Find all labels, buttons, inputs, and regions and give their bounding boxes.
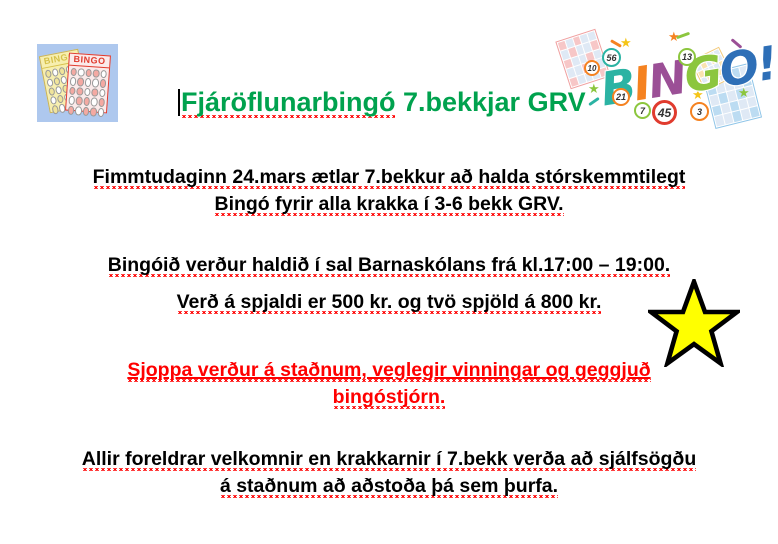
small-star-icon-2: ★ — [588, 82, 600, 95]
bingo-card-red-grid — [66, 66, 109, 119]
bingo-ball-21-number: 21 — [616, 92, 626, 102]
bingo-ball-10-number: 10 — [588, 64, 597, 73]
paragraph-parents: Allir foreldrar velkomnir en krakkarnir … — [0, 446, 778, 500]
text-cursor-caret — [178, 89, 180, 116]
document-page: BINGO BINGO — [0, 0, 778, 544]
paragraph-intro-line-1-text: Fimmtudaginn 24.mars ætlar 7.bekkur að h… — [93, 166, 686, 190]
paragraph-parents-line-1-text: Allir foreldrar velkomnir en krakkarnir … — [82, 448, 697, 472]
yellow-star-icon — [648, 279, 740, 367]
paragraph-highlight-line-1-text: Sjoppa verður á staðnum, veglegir vinnin… — [127, 359, 650, 383]
paragraph-intro-line-1: Fimmtudaginn 24.mars ætlar 7.bekkur að h… — [0, 164, 778, 191]
page-title: Fjáröflunarbingó 7.bekkjar GRV — [178, 86, 586, 118]
page-title-main: Fjáröflunarbingó — [181, 87, 395, 119]
bingo-ball-56-number: 56 — [606, 53, 616, 63]
bingo-ball-3: 3 — [690, 102, 709, 121]
bingo-ball-45-number: 45 — [658, 106, 671, 120]
paragraph-parents-line-1: Allir foreldrar velkomnir en krakkarnir … — [0, 446, 778, 473]
bingo-ball-3-number: 3 — [697, 107, 702, 117]
page-title-suffix: 7.bekkjar GRV — [395, 87, 585, 117]
paragraph-venue-time-text: Bingóið verður haldið í sal Barnaskólans… — [108, 254, 670, 278]
bingo-ball-7-number: 7 — [640, 106, 645, 116]
bingo-ball-13: 13 — [678, 48, 696, 66]
confetti-streak-4 — [588, 97, 600, 106]
bingo-ball-10: 10 — [584, 60, 600, 76]
small-star-icon-5: ★ — [668, 30, 680, 43]
paragraph-highlight-line-2: bingóstjórn. — [0, 384, 778, 411]
paragraph-parents-line-2: á staðnum að aðstoða þá sem þurfa. — [0, 473, 778, 500]
paragraph-intro: Fimmtudaginn 24.mars ætlar 7.bekkur að h… — [0, 164, 778, 218]
bingo-ball-13-number: 13 — [682, 52, 692, 62]
bingo-ball-7: 7 — [634, 102, 651, 119]
bingo-ball-56: 56 — [602, 48, 621, 67]
paragraph-venue-time: Bingóið verður haldið í sal Barnaskólans… — [0, 252, 778, 279]
paragraph-parents-line-2-text: á staðnum að aðstoða þá sem þurfa. — [220, 475, 558, 499]
bingo-logo-clipart: ★ ★ ★ ★ ★ BINGO! 56 10 21 13 7 45 3 — [558, 26, 768, 134]
bingo-cards-clipart: BINGO BINGO — [37, 44, 118, 122]
small-star-icon-1: ★ — [620, 36, 632, 49]
paragraph-intro-line-2: Bingó fyrir alla krakka í 3-6 bekk GRV. — [0, 191, 778, 218]
paragraph-price-text: Verð á spjaldi er 500 kr. og tvö spjöld … — [177, 291, 602, 315]
bingo-ball-21: 21 — [612, 88, 630, 106]
bingo-card-red: BINGO — [65, 53, 111, 114]
bingo-ball-45: 45 — [652, 100, 677, 125]
paragraph-intro-line-2-text: Bingó fyrir alla krakka í 3-6 bekk GRV. — [214, 193, 563, 217]
paragraph-highlight-line-2-text: bingóstjórn. — [333, 386, 446, 410]
paragraph-venue-time-line-1: Bingóið verður haldið í sal Barnaskólans… — [0, 252, 778, 279]
